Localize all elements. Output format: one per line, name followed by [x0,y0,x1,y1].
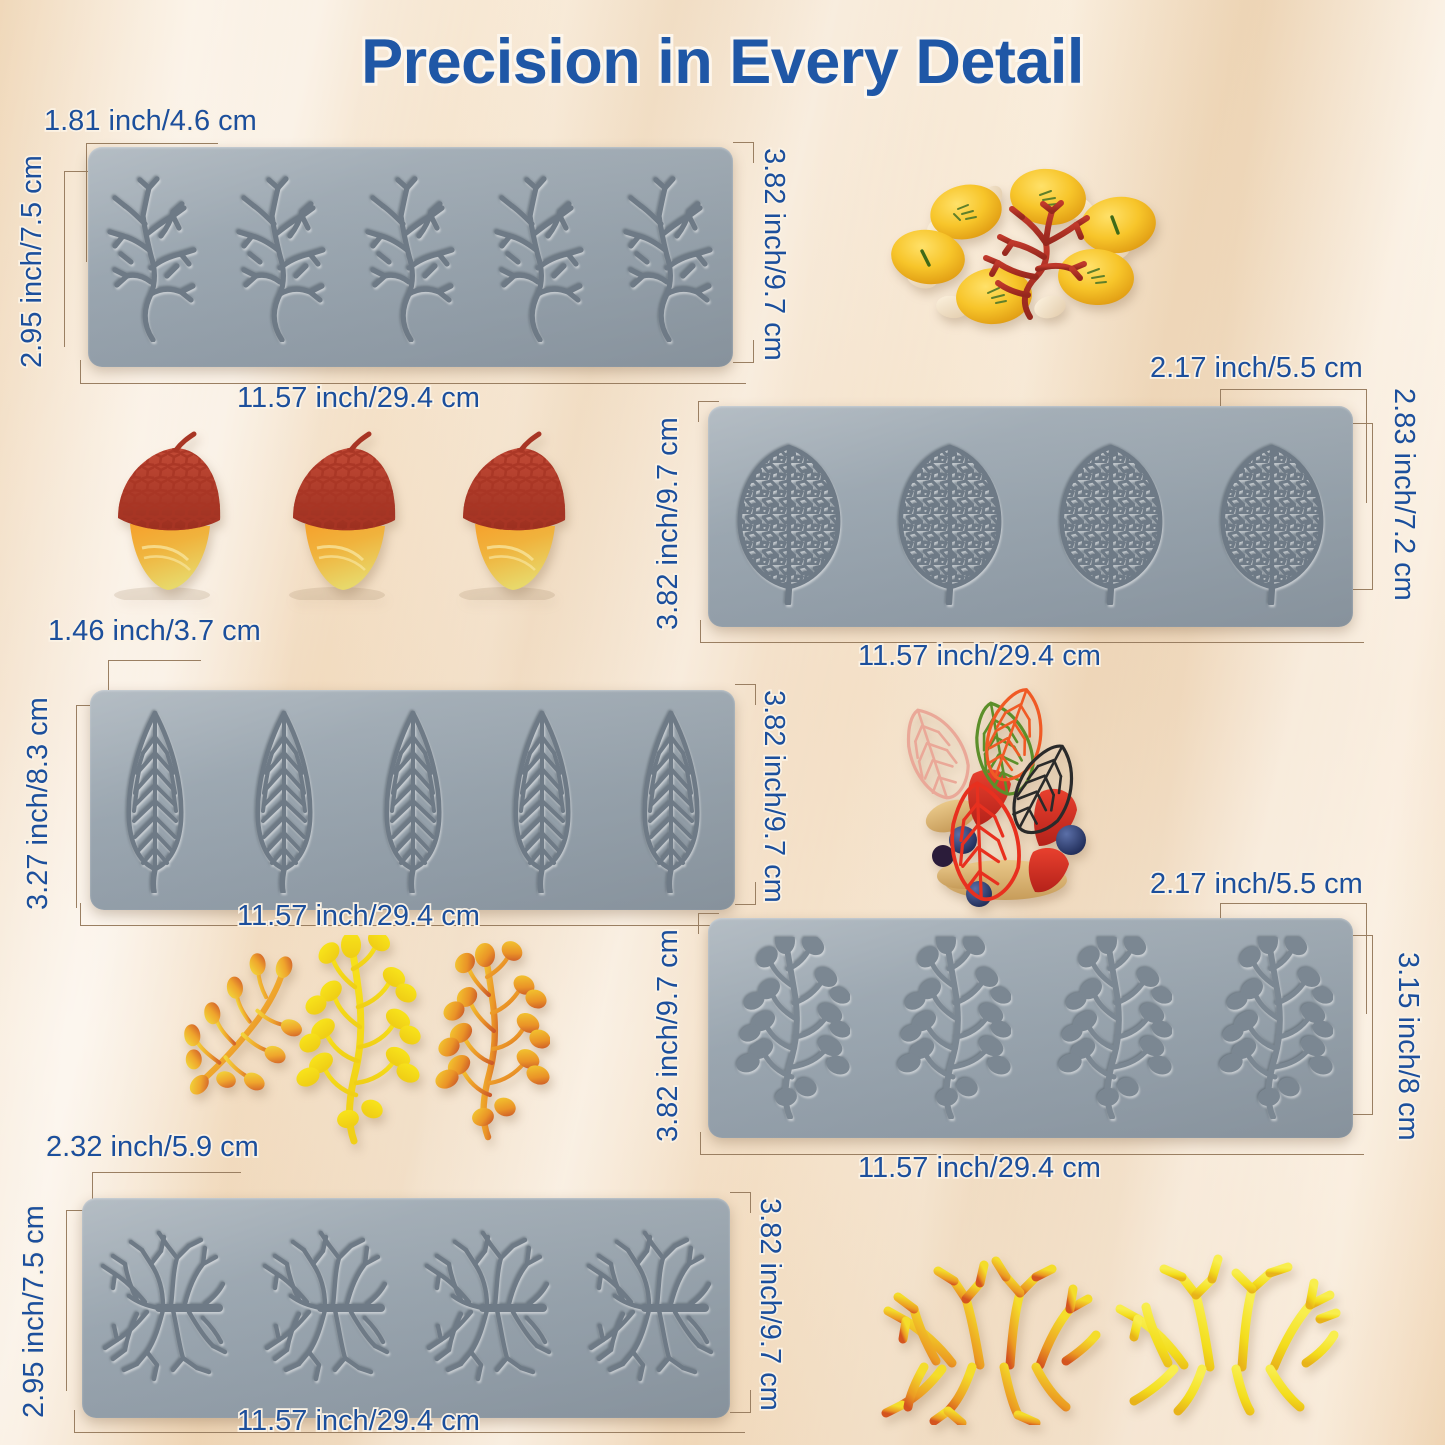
dim-m2-cavity-width: 2.17 inch/5.5 cm [1150,352,1363,385]
photo-coral-sprigs [150,935,550,1150]
dim-m4-mold-width: 11.57 inch/29.4 cm [858,1152,1101,1185]
cavity-leafy-sprig [1211,937,1333,1119]
dim-m2-mold-height: 3.82 inch/9.7 cm [652,417,685,630]
cavity-coral-branch [230,172,334,342]
cavity-sea-coral [97,1218,229,1398]
cavity-feather-leaf [498,707,586,893]
cavity-sea-coral [583,1218,715,1398]
cavity-feather-leaf [111,707,199,893]
dim-m2-cavity-height: 2.83 inch/7.2 cm [1387,388,1420,601]
cavity-mosaic-leaf [728,429,850,605]
bracket-m1-mold-height-bottom [733,340,754,363]
photo-berry-tuile [855,680,1145,910]
mold-leafy-sprig-cavities [708,918,1353,1138]
mold-mosaic-leaf [708,406,1353,627]
dim-m1-cavity-height: 2.95 inch/7.5 cm [16,155,49,368]
cavity-feather-leaf [369,707,457,893]
cavity-mosaic-leaf [1050,429,1172,605]
dim-m4-mold-height: 3.82 inch/9.7 cm [652,929,685,1142]
mold-leafy-sprig [708,918,1353,1138]
mold-feather-leaf [90,690,735,910]
cavity-leafy-sprig [889,937,1011,1119]
bracket-m3-mold-height-bottom [735,882,756,905]
mold-mosaic-leaf-cavities [708,406,1353,627]
cavity-coral-branch [617,172,721,342]
bracket-m5-mold-height-top [730,1192,751,1213]
dim-m3-cavity-height: 3.27 inch/8.3 cm [22,697,55,910]
cavity-feather-leaf [240,707,328,893]
cavity-coral-branch [101,172,205,342]
dim-m1-mold-width: 11.57 inch/29.4 cm [237,382,480,415]
photo-yellow-discs-coral [880,165,1180,345]
mold-coral-branch-cavities [88,147,733,367]
infographic-canvas: Precision in Every Detail [0,0,1445,1445]
cavity-coral-branch [488,172,592,342]
dim-m3-mold-height: 3.82 inch/9.7 cm [757,690,790,903]
mold-sea-coral-cavities [82,1198,730,1418]
cavity-mosaic-leaf [1211,429,1333,605]
cavity-leafy-sprig [1050,937,1172,1119]
cavity-mosaic-leaf [889,429,1011,605]
bracket-m5-mold-height-bottom [730,1390,751,1413]
dim-m5-cavity-height: 2.95 inch/7.5 cm [18,1205,51,1418]
cavity-coral-branch [359,172,463,342]
cavity-feather-leaf [627,707,715,893]
photo-acorn-trio [72,430,612,600]
dim-m3-mold-width: 11.57 inch/29.4 cm [237,900,480,933]
cavity-sea-coral [259,1218,391,1398]
photo-coral-pair [880,1225,1350,1425]
dim-m4-cavity-width: 2.17 inch/5.5 cm [1150,868,1363,901]
page-title: Precision in Every Detail [0,26,1445,98]
bracket-m1-mold-height [733,142,754,163]
dim-m1-cavity-width: 1.81 inch/4.6 cm [44,105,257,138]
mold-sea-coral [82,1198,730,1418]
dim-m4-cavity-height: 3.15 inch/8 cm [1391,952,1424,1141]
dim-m5-cavity-width: 2.32 inch/5.9 cm [46,1131,259,1164]
dim-m2-mold-width: 11.57 inch/29.4 cm [858,640,1101,673]
dim-m5-mold-height: 3.82 inch/9.7 cm [753,1198,786,1411]
dim-m1-mold-height: 3.82 inch/9.7 cm [757,148,790,361]
cavity-leafy-sprig [728,937,850,1119]
mold-feather-leaf-cavities [90,690,735,910]
dim-m5-mold-width: 11.57 inch/29.4 cm [237,1405,480,1438]
cavity-sea-coral [421,1218,553,1398]
bracket-m3-mold-height-top [735,684,756,705]
mold-coral-branch [88,147,733,367]
dim-m3-cavity-width: 1.46 inch/3.7 cm [48,615,261,648]
